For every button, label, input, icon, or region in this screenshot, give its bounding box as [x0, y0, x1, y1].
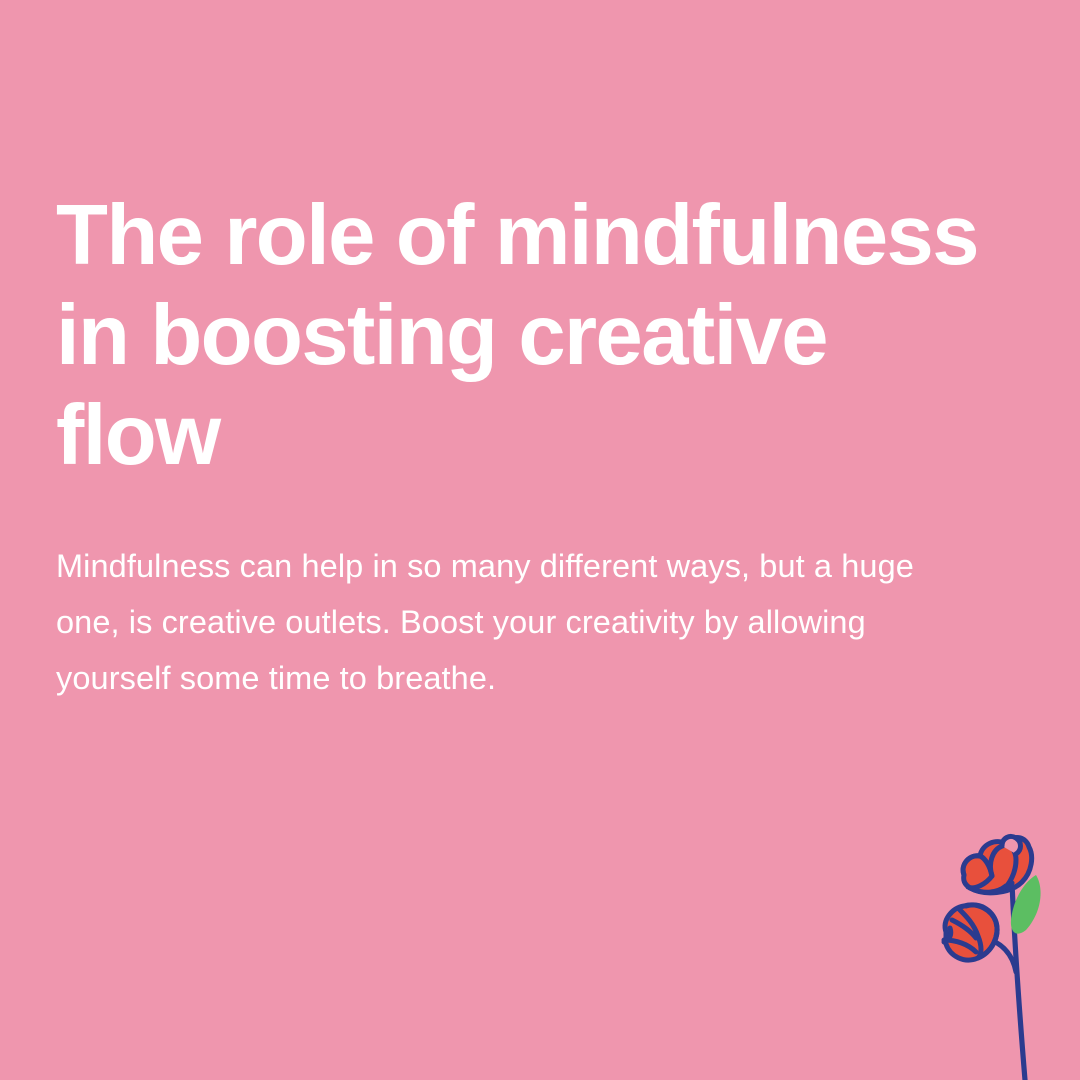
- flower-illustration: [930, 820, 1080, 1080]
- lower-flower-icon: [944, 905, 997, 960]
- page-title: The role of mindfulness in boosting crea…: [56, 186, 1008, 486]
- upper-flower-icon: [963, 836, 1032, 892]
- card-text-block: The role of mindfulness in boosting crea…: [56, 186, 1008, 706]
- social-card: The role of mindfulness in boosting crea…: [0, 0, 1080, 1080]
- flower-illustration-svg: [930, 820, 1080, 1080]
- card-subcopy: Mindfulness can help in so many differen…: [56, 486, 956, 706]
